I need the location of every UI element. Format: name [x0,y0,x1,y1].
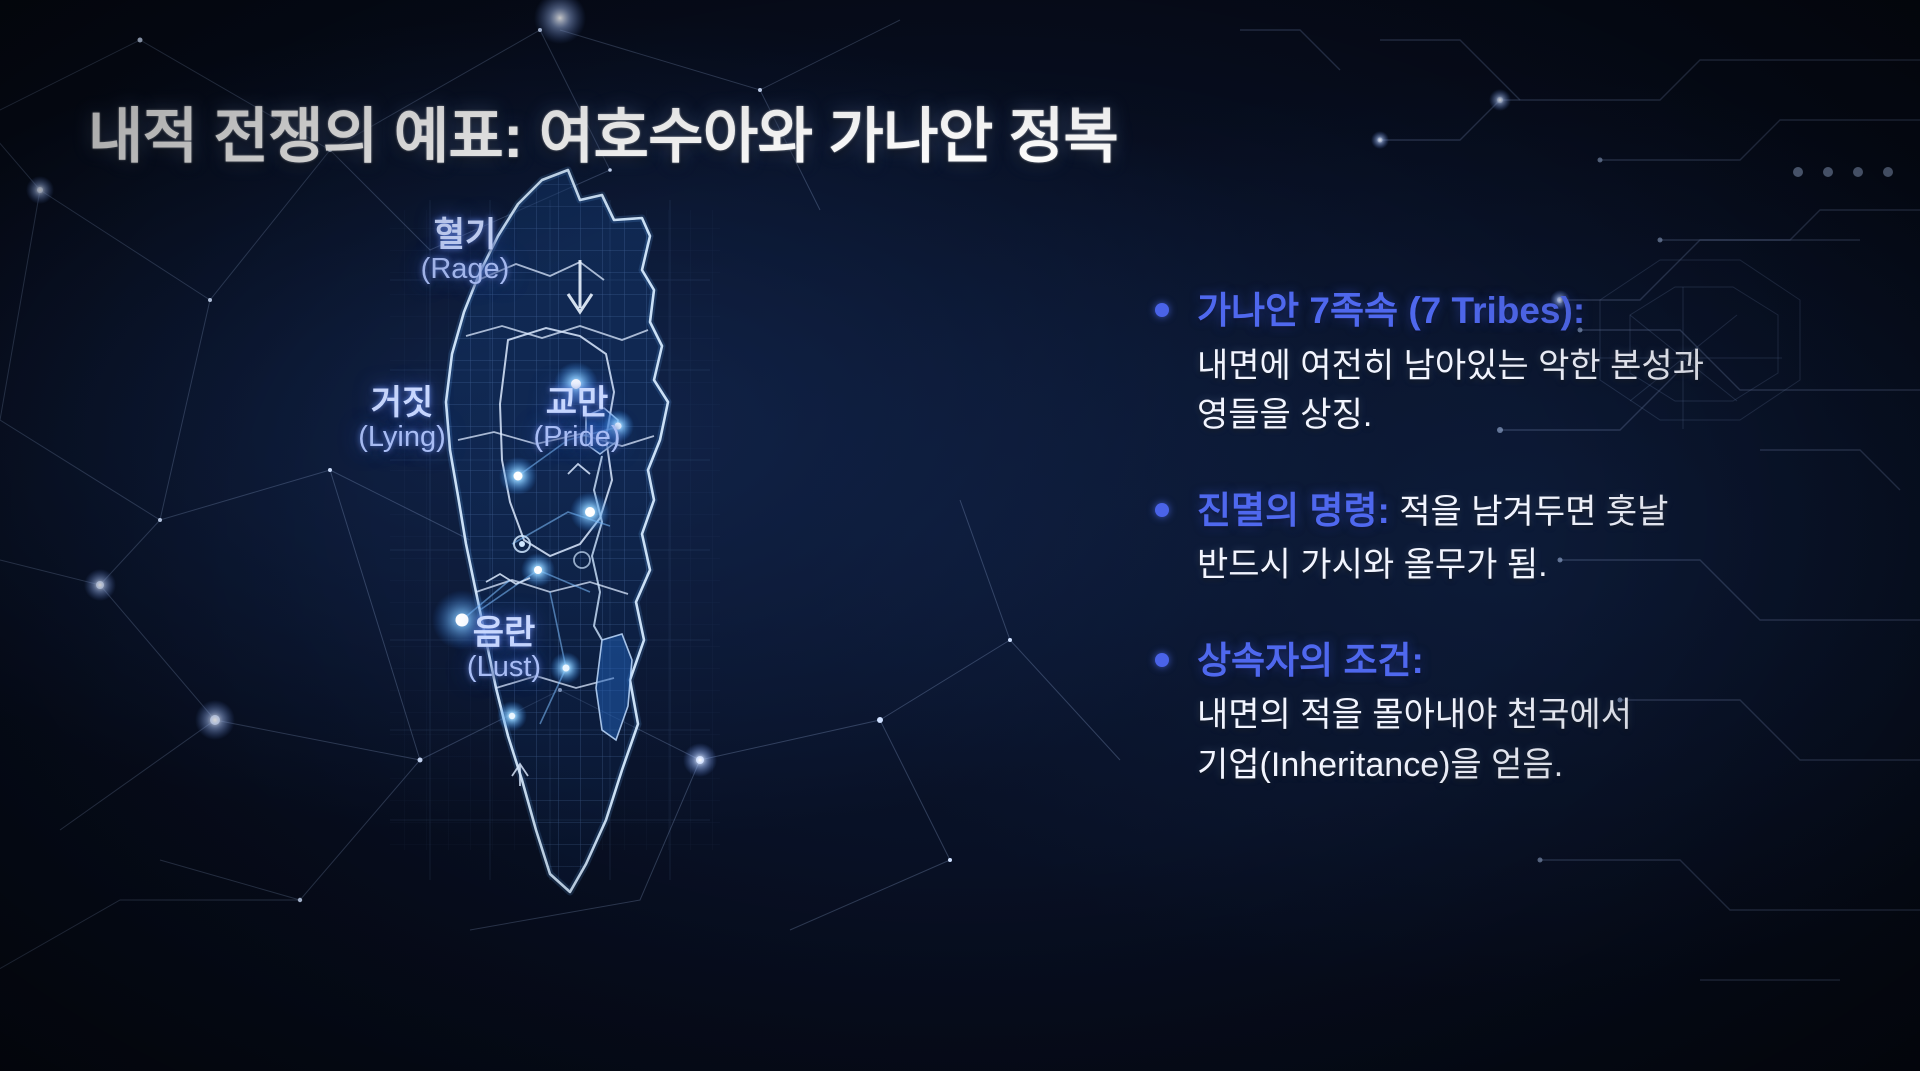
bullet-body-line: 영들을 상징. [1197,391,1875,441]
bullet-item-condition-of-heir: 상속자의 조건: 내면의 적을 몰아내야 천국에서 기업(Inheritance… [1155,635,1875,791]
bullet-item-seven-tribes: 가나안 7족속 (7 Tribes): 내면에 여전히 남아있는 악한 본성과 … [1155,285,1875,441]
bullet-body: 반드시 가시와 올무가 됨. [1197,541,1875,591]
bullet-dot-icon [1155,303,1169,317]
bullet-item-command-of-destruction: 진멸의 명령: 적을 남겨두면 훗날 반드시 가시와 올무가 됨. [1155,485,1875,591]
bullet-text: 진멸의 명령: 적을 남겨두면 훗날 반드시 가시와 올무가 됨. [1155,485,1875,591]
bullet-body-line: 반드시 가시와 올무가 됨. [1197,541,1875,591]
slide-root: 내적 전쟁의 예표: 여호수아와 가나안 정복 [0,0,1920,1071]
bullet-body-line: 내면에 여전히 남아있는 악한 본성과 [1197,342,1875,392]
bullet-heading: 상속자의 조건: [1197,640,1424,681]
bullet-body-line: 기업(Inheritance)을 얻음. [1197,741,1875,791]
bullet-inline-text: 적을 남겨두면 훗날 [1390,493,1669,531]
bullet-body: 내면의 적을 몰아내야 천국에서 기업(Inheritance)을 얻음. [1197,691,1875,790]
bullet-body: 내면에 여전히 남아있는 악한 본성과 영들을 상징. [1197,342,1875,441]
map-illustration [250,140,810,910]
bullet-text: 상속자의 조건: 내면의 적을 몰아내야 천국에서 기업(Inheritance… [1155,635,1875,791]
bullet-dot-icon [1155,653,1169,667]
bullet-body-line: 내면의 적을 몰아내야 천국에서 [1197,691,1875,741]
bullet-heading: 진멸의 명령: [1197,490,1390,531]
bullet-text: 가나안 7족속 (7 Tribes): 내면에 여전히 남아있는 악한 본성과 … [1155,285,1875,441]
bullet-heading: 가나안 7족속 (7 Tribes): [1197,290,1585,331]
bullet-dot-icon [1155,503,1169,517]
bullet-list: 가나안 7족속 (7 Tribes): 내면에 여전히 남아있는 악한 본성과 … [1155,285,1875,791]
